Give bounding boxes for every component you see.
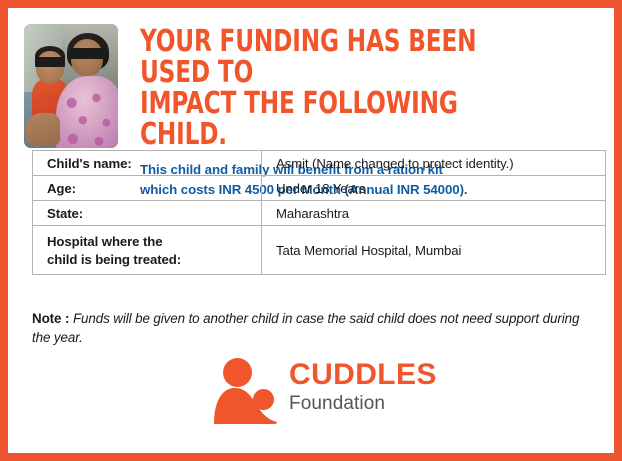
table-row: Hospital where the child is being treate… (33, 226, 606, 275)
row-value-age: Under 18 Years (262, 176, 606, 201)
row-label-childs-name: Child's name: (33, 151, 262, 176)
logo-subtitle: Foundation (289, 391, 437, 416)
photo-woman-dress-pattern (58, 88, 118, 148)
note-text: Funds will be given to another child in … (32, 311, 579, 345)
table-row: Age: Under 18 Years (33, 176, 606, 201)
row-label-hospital: Hospital where the child is being treate… (33, 226, 262, 275)
row-value-hospital: Tata Memorial Hospital, Mumbai (262, 226, 606, 275)
row-value-childs-name: Asmit (Name changed to protect identity.… (262, 151, 606, 176)
donation-impact-card: YOUR FUNDING HAS BEEN USED TO IMPACT THE… (0, 0, 622, 461)
cuddles-foundation-logo: CUDDLES Foundation (211, 355, 443, 427)
logo-title: CUDDLES (289, 359, 437, 391)
photo-privacy-bar-woman (70, 48, 106, 59)
photo-child-head (36, 51, 64, 83)
row-value-state: Maharashtra (262, 201, 606, 226)
logo-wordmark: CUDDLES Foundation (289, 359, 437, 416)
child-and-mother-photo (24, 24, 118, 148)
note-prefix: Note : (32, 311, 69, 326)
photo-privacy-bar-child (35, 57, 65, 67)
photo-arm (26, 113, 60, 145)
row-label-age: Age: (33, 176, 262, 201)
table-row: Child's name: Asmit (Name changed to pro… (33, 151, 606, 176)
header-section: YOUR FUNDING HAS BEEN USED TO IMPACT THE… (24, 24, 598, 150)
card-inner: YOUR FUNDING HAS BEEN USED TO IMPACT THE… (8, 8, 614, 453)
row-label-state: State: (33, 201, 262, 226)
disclaimer-note: Note : Funds will be given to another ch… (32, 309, 598, 347)
cuddles-parent-and-child-icon (211, 355, 281, 425)
page-title: YOUR FUNDING HAS BEEN USED TO IMPACT THE… (140, 24, 534, 150)
child-details-table: Child's name: Asmit (Name changed to pro… (32, 150, 606, 275)
table-row: State: Maharashtra (33, 201, 606, 226)
